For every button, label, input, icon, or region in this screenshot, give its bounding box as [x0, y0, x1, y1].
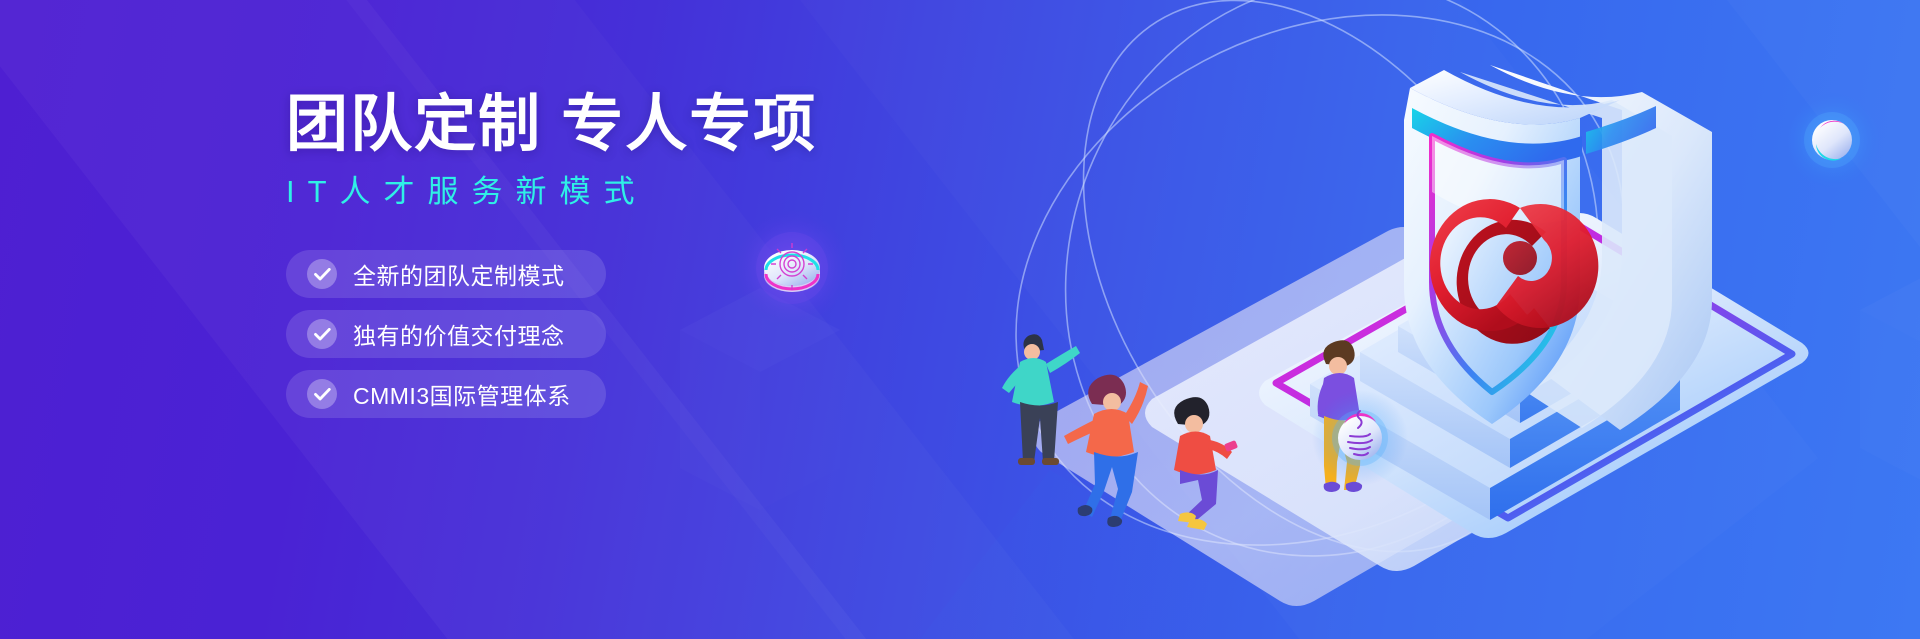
feature-badge[interactable]: CMMI3国际管理体系: [286, 370, 606, 418]
feature-badge-label: CMMI3国际管理体系: [353, 377, 571, 411]
banner-title: 团队定制 专人专项: [286, 92, 1046, 159]
java-logo-node: [1312, 390, 1408, 486]
logo-c-dot: [1503, 241, 1537, 275]
feature-badge-list: 全新的团队定制模式 独有的价值交付理念 CMMI3国际管理体系: [286, 250, 1046, 418]
security-shield: [1404, 65, 1712, 430]
check-icon: [307, 379, 337, 409]
feature-badge[interactable]: 独有的价值交付理念: [286, 310, 606, 358]
feature-badge[interactable]: 全新的团队定制模式: [286, 250, 606, 298]
sphere-node-top-right: [1784, 92, 1880, 188]
banner-subtitle: IT人才服务新模式: [286, 173, 1046, 210]
promo-banner: 团队定制 专人专项 IT人才服务新模式 全新的团队定制模式 独有的价值交付理念: [0, 0, 1920, 639]
check-icon: [307, 319, 337, 349]
feature-badge-label: 独有的价值交付理念: [353, 317, 565, 351]
banner-copy: 团队定制 专人专项 IT人才服务新模式 全新的团队定制模式 独有的价值交付理念: [286, 92, 1046, 430]
feature-badge-label: 全新的团队定制模式: [353, 257, 565, 291]
check-icon: [307, 259, 337, 289]
